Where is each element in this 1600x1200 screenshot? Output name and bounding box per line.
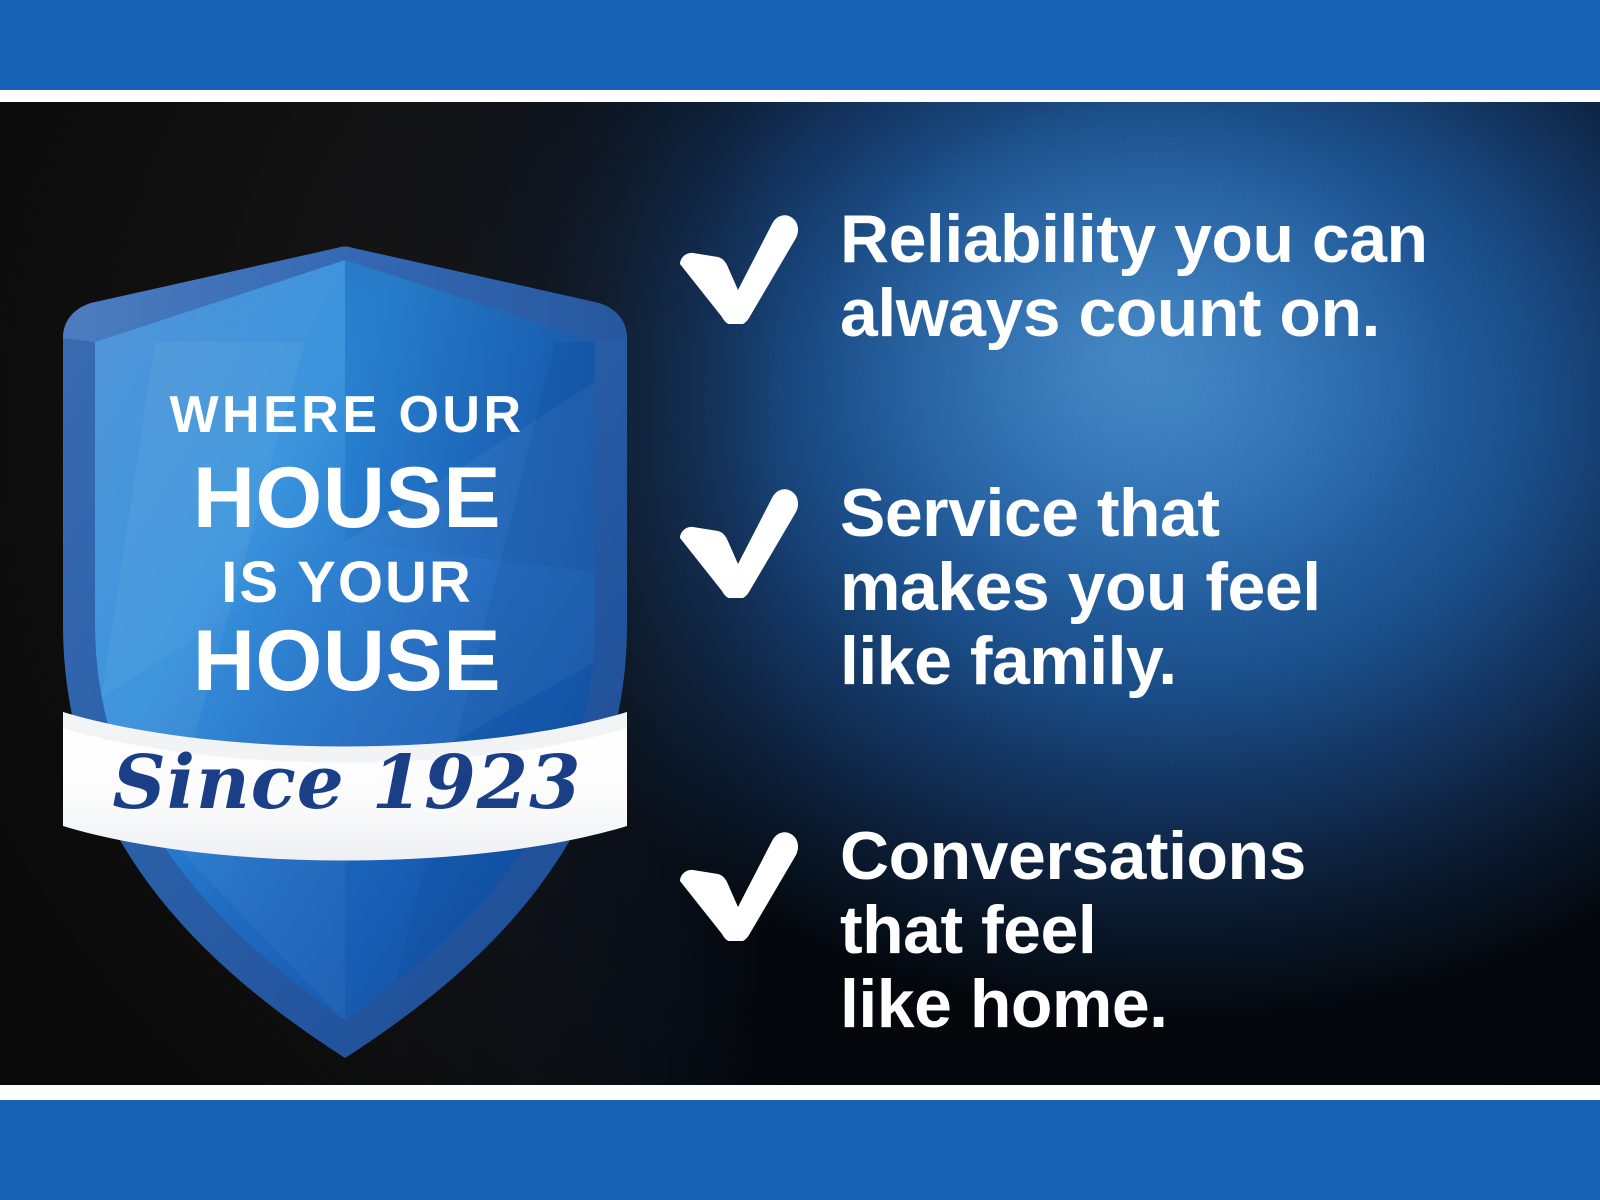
- benefit-text: Conversations that feel like home.: [840, 819, 1532, 1041]
- benefit-list: Reliability you can always count on. Ser…: [672, 202, 1532, 1041]
- check-icon: [672, 208, 812, 324]
- ribbon-text: Since 1923: [112, 740, 581, 826]
- shield-line-4: HOUSE: [193, 613, 501, 709]
- shield-line-1: WHERE OUR: [169, 386, 524, 444]
- shield-line-3: IS YOUR: [221, 550, 472, 615]
- benefit-item-reliability: Reliability you can always count on.: [672, 202, 1532, 350]
- bottom-brand-bar: [0, 1100, 1600, 1200]
- benefit-item-service: Service that makes you feel like family.: [672, 476, 1532, 698]
- shield-line-2: HOUSE: [193, 450, 501, 546]
- shield-emblem: WHERE OUR HOUSE IS YOUR HOUSE Since 1923: [55, 242, 635, 1062]
- main-stage: WHERE OUR HOUSE IS YOUR HOUSE Since 1923: [0, 102, 1600, 1085]
- top-brand-bar: [0, 0, 1600, 90]
- benefit-text: Reliability you can always count on.: [840, 202, 1532, 350]
- benefit-item-conversations: Conversations that feel like home.: [672, 819, 1532, 1041]
- benefit-text: Service that makes you feel like family.: [840, 476, 1532, 698]
- check-icon: [672, 825, 812, 941]
- promo-graphic: WHERE OUR HOUSE IS YOUR HOUSE Since 1923: [0, 0, 1600, 1200]
- check-icon: [672, 482, 812, 598]
